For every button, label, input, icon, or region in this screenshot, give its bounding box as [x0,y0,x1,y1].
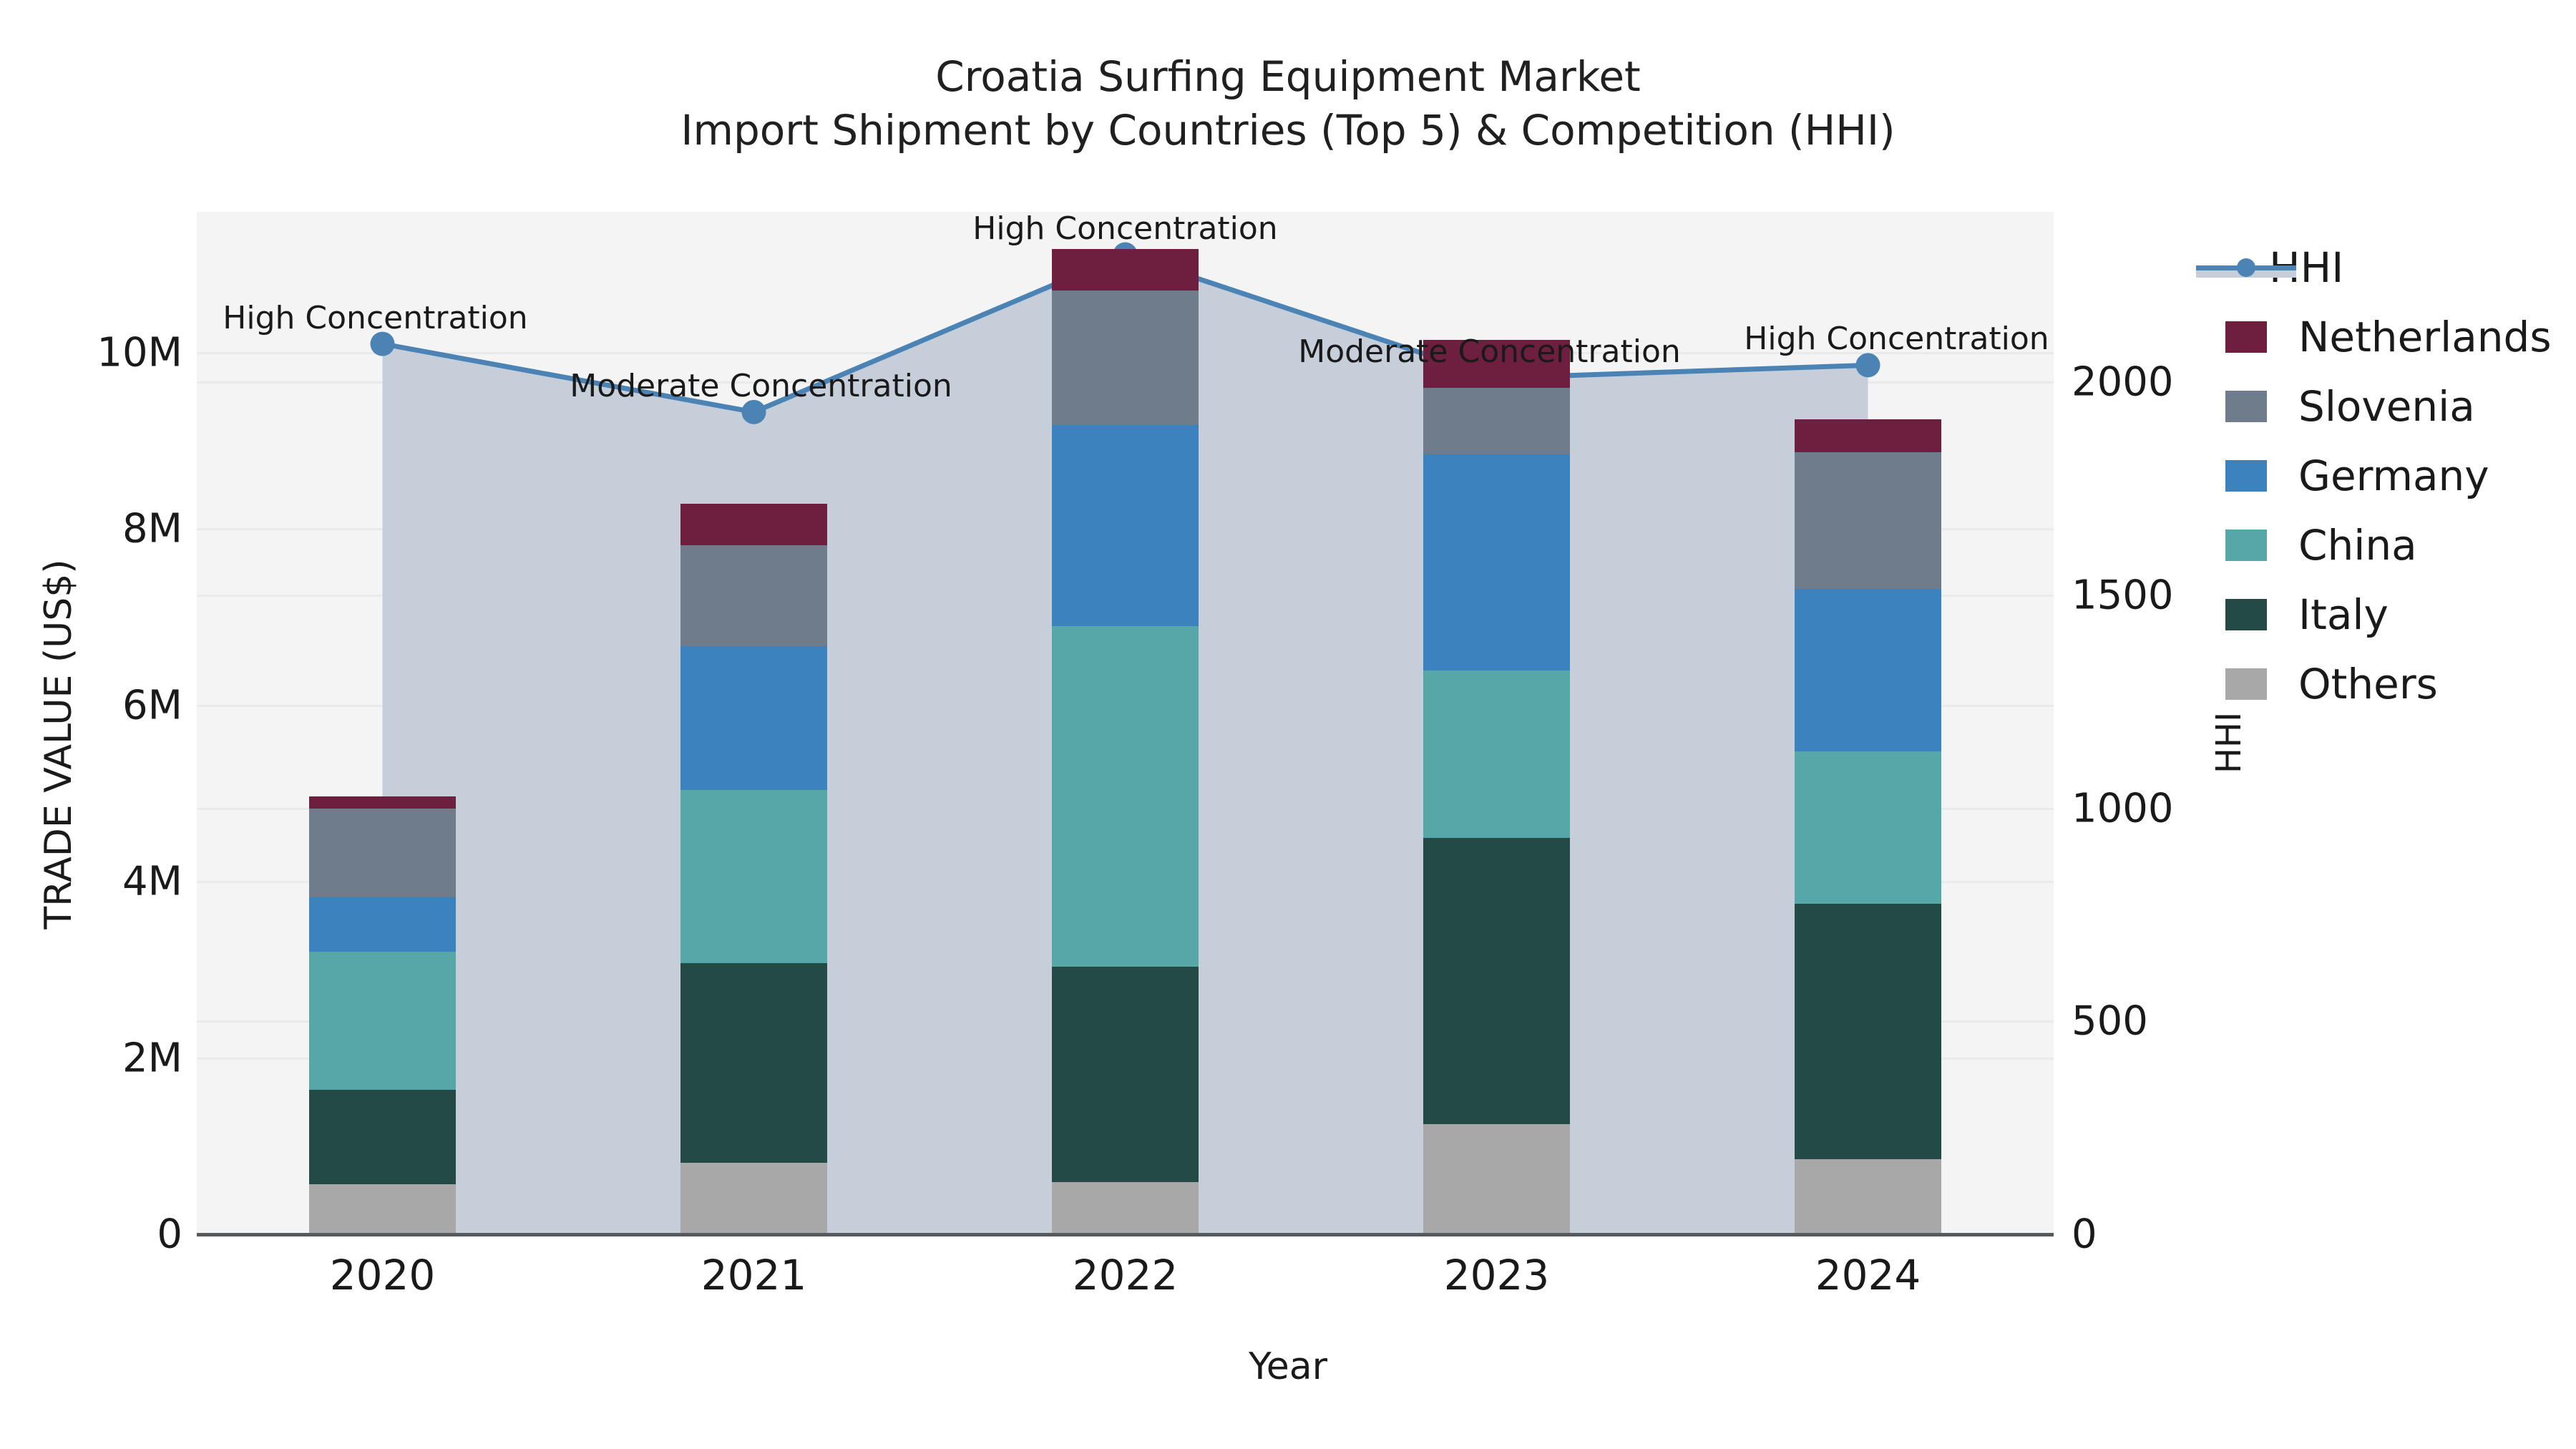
bar-segment-others[interactable] [1423,1124,1570,1234]
y-axis-right-tick-label: 1000 [2072,785,2301,831]
bar-segment-germany[interactable] [1052,425,1199,626]
bar-segment-netherlands[interactable] [680,504,827,545]
hhi-annotation-2022: High Concentration [972,210,1277,247]
bar-segment-germany[interactable] [1423,454,1570,670]
legend-item-hhi[interactable]: HHI [2225,233,2562,302]
hhi-annotation-2023: Moderate Concentration [1298,333,1681,370]
y-axis-left-tick-label: 6M [0,682,182,728]
y-axis-left-tick-label: 10M [0,330,182,376]
bar-2022[interactable] [1052,212,1199,1234]
bar-segment-others[interactable] [680,1163,827,1234]
y-axis-left-tick-label: 8M [0,506,182,552]
bar-segment-others[interactable] [1052,1182,1199,1234]
bar-segment-slovenia[interactable] [309,809,456,897]
legend-label: Netherlands [2298,313,2552,361]
legend-line-marker-icon [2196,252,2296,283]
legend-swatch-icon [2225,321,2267,353]
bar-segment-slovenia[interactable] [680,545,827,647]
bar-segment-slovenia[interactable] [1423,388,1570,454]
bar-segment-italy[interactable] [309,1090,456,1184]
legend-item-italy[interactable]: Italy [2225,580,2562,649]
bar-segment-china[interactable] [1052,626,1199,967]
bar-segment-china[interactable] [1423,670,1570,838]
bar-segment-china[interactable] [1795,751,1941,904]
bar-segment-netherlands[interactable] [309,796,456,809]
legend: HHINetherlandsSloveniaGermanyChinaItalyO… [2225,233,2562,718]
x-axis-tick-label-2024: 2024 [1718,1251,2019,1299]
y-axis-left-title: TRADE VALUE (US$) [37,522,80,966]
legend-item-slovenia[interactable]: Slovenia [2225,371,2562,441]
plot-area [197,212,2054,1234]
hhi-annotation-2024: High Concentration [1744,321,2049,357]
legend-item-china[interactable]: China [2225,510,2562,580]
legend-dot-icon [2237,258,2255,277]
bar-segment-germany[interactable] [309,897,456,951]
bar-segment-italy[interactable] [1795,904,1941,1159]
legend-item-germany[interactable]: Germany [2225,441,2562,510]
y-axis-left-tick-label: 2M [0,1035,182,1081]
bar-segment-others[interactable] [1795,1159,1941,1234]
legend-item-netherlands[interactable]: Netherlands [2225,302,2562,371]
x-axis-line [197,1233,2054,1236]
bar-2021[interactable] [680,212,827,1234]
bar-2020[interactable] [309,212,456,1234]
bar-segment-slovenia[interactable] [1795,452,1941,589]
bar-segment-china[interactable] [309,952,456,1090]
y-axis-right-tick-label: 0 [2072,1211,2301,1258]
bar-segment-italy[interactable] [1423,838,1570,1124]
x-axis-tick-label-2022: 2022 [975,1251,1276,1299]
legend-label: Germany [2298,452,2489,500]
bar-segment-italy[interactable] [1052,967,1199,1183]
x-axis-tick-label-2021: 2021 [604,1251,904,1299]
legend-swatch-icon [2225,460,2267,492]
y-axis-right-tick-label: 500 [2072,998,2301,1045]
legend-label: Others [2298,660,2438,708]
bar-segment-others[interactable] [309,1184,456,1234]
chart-root: Croatia Surfing Equipment Market Import … [0,0,2576,1449]
bar-segment-italy[interactable] [680,963,827,1163]
hhi-annotation-2021: Moderate Concentration [570,368,952,404]
x-axis-title: Year [0,1345,2576,1388]
bar-segment-china[interactable] [680,790,827,962]
hhi-annotation-2020: High Concentration [223,300,527,336]
legend-label: Italy [2298,590,2389,639]
bar-segment-netherlands[interactable] [1795,419,1941,453]
bar-2024[interactable] [1795,212,1941,1234]
legend-label: Slovenia [2298,382,2475,431]
y-axis-left-tick-label: 0 [0,1211,182,1258]
bar-segment-netherlands[interactable] [1052,249,1199,291]
y-axis-left-tick-label: 4M [0,859,182,905]
bar-segment-slovenia[interactable] [1052,291,1199,425]
bar-segment-germany[interactable] [680,646,827,790]
legend-swatch-icon [2225,668,2267,700]
legend-item-others[interactable]: Others [2225,649,2562,718]
legend-swatch-icon [2225,391,2267,422]
chart-title-line-1: Croatia Surfing Equipment Market [0,50,2576,104]
x-axis-tick-label-2023: 2023 [1347,1251,1647,1299]
chart-title-line-2: Import Shipment by Countries (Top 5) & C… [0,104,2576,157]
legend-swatch-icon [2225,530,2267,561]
bar-segment-germany[interactable] [1795,589,1941,751]
chart-title: Croatia Surfing Equipment Market Import … [0,50,2576,158]
legend-swatch-icon [2225,599,2267,630]
legend-label: China [2298,521,2417,570]
x-axis-tick-label-2020: 2020 [233,1251,533,1299]
